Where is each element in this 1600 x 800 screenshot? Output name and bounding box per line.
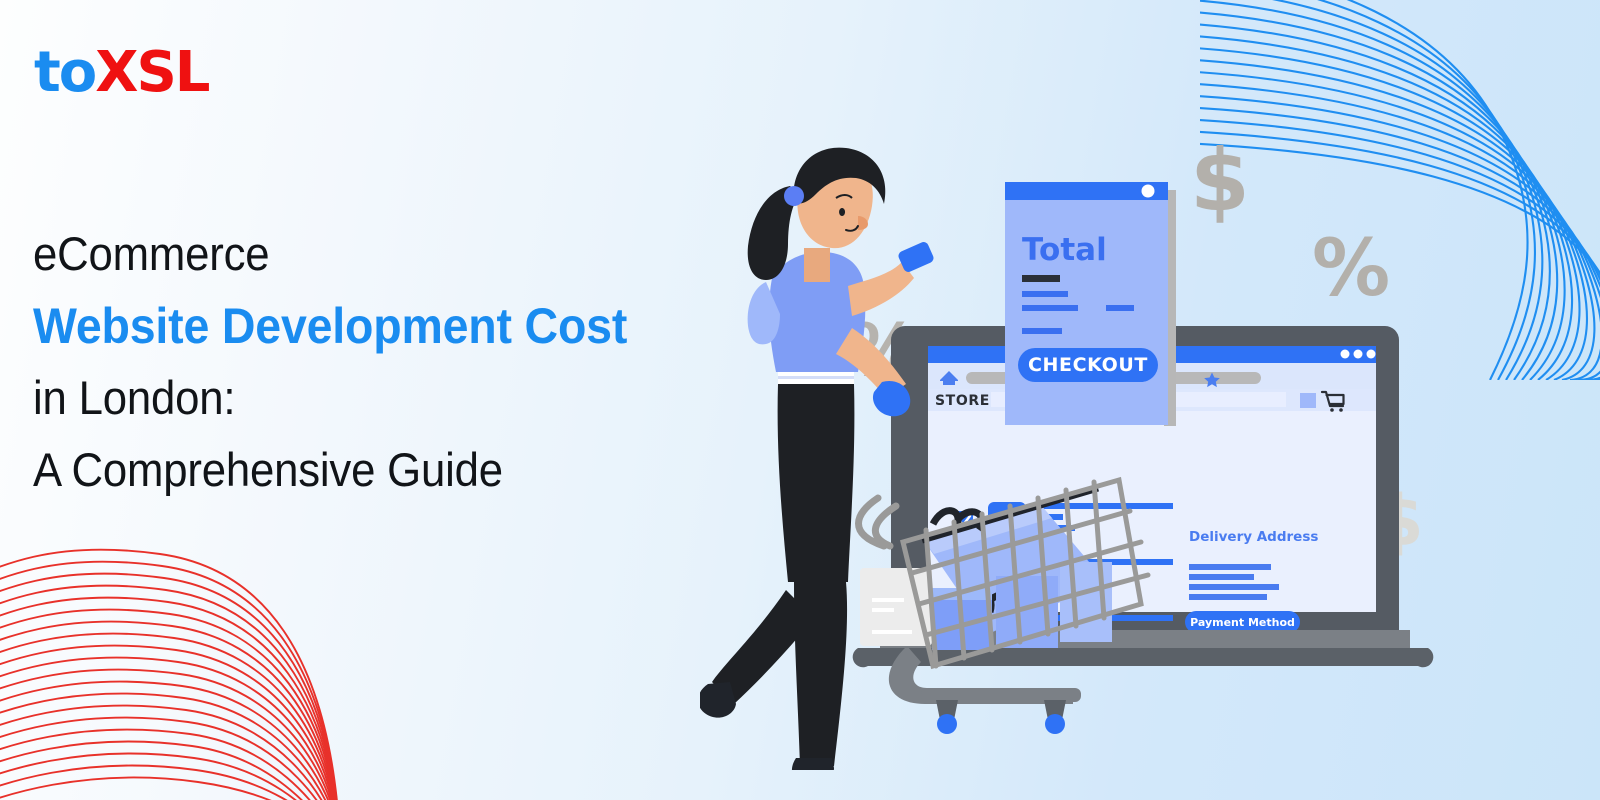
cart-wheel-right bbox=[1045, 714, 1065, 734]
percent-symbol-top-right: % bbox=[1312, 224, 1390, 314]
delivery-line-1 bbox=[1189, 564, 1271, 570]
window-dot-3 bbox=[1367, 350, 1376, 359]
character-back-shoe bbox=[700, 682, 736, 718]
headline-line-3: in London: bbox=[33, 362, 740, 434]
phone-line-2 bbox=[1022, 305, 1078, 311]
phone-camera-dot bbox=[1142, 185, 1155, 198]
phone-mockup: Total CHECKOUT bbox=[1005, 182, 1176, 426]
phone-line-3 bbox=[1022, 328, 1062, 334]
character-front-shoe bbox=[792, 758, 834, 770]
character-hips bbox=[778, 384, 855, 582]
cart-badge bbox=[1300, 393, 1316, 408]
payment-method-button: Payment Method bbox=[1185, 611, 1300, 633]
character-neck bbox=[804, 248, 830, 282]
character-front-leg bbox=[794, 582, 847, 766]
phone-line-1 bbox=[1022, 291, 1068, 297]
page-title: eCommerce Website Development Cost in Lo… bbox=[33, 218, 793, 506]
window-dot-2 bbox=[1354, 350, 1363, 359]
delivery-line-2 bbox=[1189, 574, 1254, 580]
cart-wheel-left bbox=[937, 714, 957, 734]
cart-handle bbox=[859, 498, 897, 546]
logo-text-to: to bbox=[34, 40, 95, 105]
checkout-label: CHECKOUT bbox=[1028, 354, 1148, 376]
dollar-symbol-top: $ bbox=[1190, 131, 1250, 231]
decorative-wave-bottom-left bbox=[0, 540, 370, 800]
phone-total-title: Total bbox=[1022, 232, 1107, 268]
window-dot-1 bbox=[1341, 350, 1350, 359]
payment-method-label: Payment Method bbox=[1190, 616, 1295, 629]
phone-line-dark bbox=[1022, 275, 1060, 282]
delivery-address-heading: Delivery Address bbox=[1189, 529, 1318, 545]
phone-line-price bbox=[1106, 305, 1134, 311]
checkout-button: CHECKOUT bbox=[1018, 348, 1158, 382]
character-hair-tie bbox=[784, 186, 804, 206]
hero-banner: toXSL eCommerce Website Development Cost… bbox=[0, 0, 1600, 800]
logo[interactable]: toXSL bbox=[34, 45, 208, 101]
logo-text-x: X bbox=[95, 40, 136, 105]
delivery-line-4 bbox=[1189, 594, 1267, 600]
ecommerce-illustration: $ % % $ ST bbox=[700, 90, 1460, 770]
headline-line-4: A Comprehensive Guide bbox=[33, 434, 740, 506]
headline-line-1: eCommerce bbox=[33, 218, 740, 290]
phone-body bbox=[1005, 182, 1168, 425]
headline-line-2: Website Development Cost bbox=[33, 290, 740, 362]
logo-text-sl: SL bbox=[136, 40, 208, 105]
store-label: STORE bbox=[935, 393, 990, 409]
delivery-line-3 bbox=[1189, 584, 1279, 590]
character-eye bbox=[839, 208, 845, 216]
